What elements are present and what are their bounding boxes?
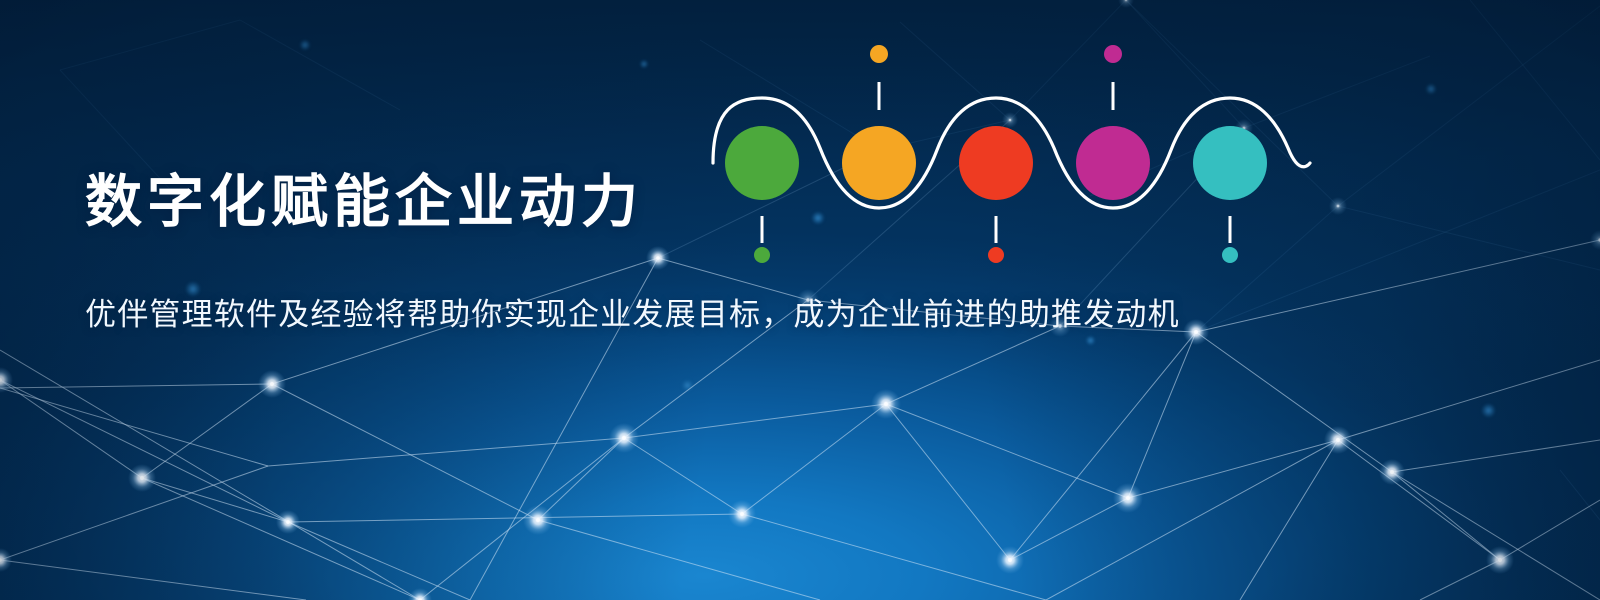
marker-dot-orange (870, 45, 888, 63)
node-circle-magenta (1076, 126, 1150, 200)
banner-subheadline: 优伴管理软件及经验将帮助你实现企业发展目标，成为企业前进的助推发动机 (85, 296, 1180, 333)
marker-dot-green (754, 247, 770, 263)
node-circle-red (959, 126, 1033, 200)
node-circle-green (725, 126, 799, 200)
node-circle-teal (1193, 126, 1267, 200)
infographic-wave (640, 0, 1400, 300)
node-circle-orange (842, 126, 916, 200)
banner-headline: 数字化赋能企业动力 (85, 172, 643, 232)
marker-dot-red (988, 247, 1004, 263)
hero-banner: 数字化赋能企业动力 优伴管理软件及经验将帮助你实现企业发展目标，成为企业前进的助… (0, 0, 1600, 600)
marker-dot-teal (1222, 247, 1238, 263)
marker-dot-magenta (1104, 45, 1122, 63)
